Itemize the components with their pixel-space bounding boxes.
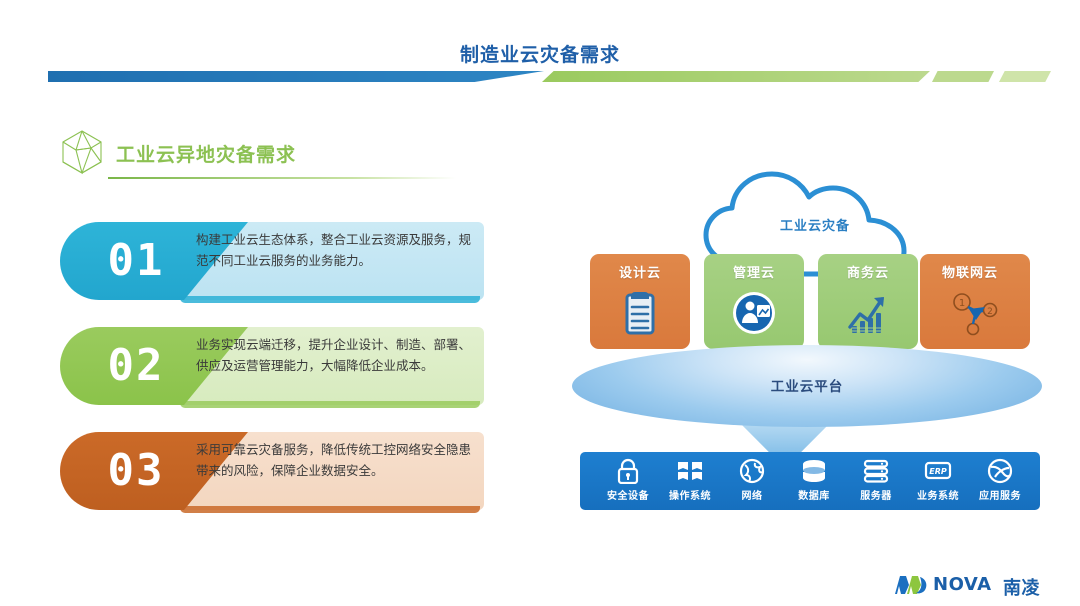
clipboard-icon — [610, 287, 670, 342]
item-text: 业务实现云端迁移，提升企业设计、制造、部署、供应及运营管理能力，大幅降低企业成本… — [196, 334, 480, 376]
svg-text:2: 2 — [987, 307, 993, 317]
section-heading-label: 工业云异地灾备需求 — [116, 140, 296, 167]
service-box-label: 管理云 — [704, 262, 804, 281]
infra-item-security[interactable]: 安全设备 — [596, 458, 660, 506]
logo-name-cn: 南凌 — [1003, 574, 1040, 600]
infra-item-business-system[interactable]: ERP 业务系统 — [906, 458, 970, 506]
header-decoration-bars — [0, 70, 1080, 84]
page-title: 制造业云灾备需求 — [0, 40, 1080, 67]
service-box-management-cloud[interactable]: 管理云 — [704, 254, 804, 349]
service-box-iot-cloud[interactable]: 物联网云 1 2 — [920, 254, 1030, 349]
item-text: 采用可靠云灾备服务，降低传统工控网络安全隐患带来的风险，保障企业数据安全。 — [196, 439, 480, 481]
slide-header: 制造业云灾备需求 — [0, 40, 1080, 88]
infra-item-network[interactable]: 网络 — [720, 458, 784, 506]
section-heading-rule — [108, 177, 456, 179]
list-item[interactable]: 01 构建工业云生态体系，整合工业云资源及服务，规范不同工业云服务的业务能力。 — [60, 222, 484, 300]
list-item[interactable]: 02 业务实现云端迁移，提升企业设计、制造、部署、供应及运营管理能力，大幅降低企… — [60, 327, 484, 405]
database-icon — [799, 458, 829, 484]
item-number: 01 — [90, 231, 182, 291]
infra-item-server[interactable]: 服务器 — [844, 458, 908, 506]
svg-text:1: 1 — [959, 298, 965, 309]
item-panel-shadow — [180, 296, 480, 303]
svg-text:ERP: ERP — [929, 467, 947, 476]
header-bar-green — [542, 71, 930, 82]
platform-label: 工业云平台 — [572, 375, 1042, 395]
header-bar-blue — [48, 71, 544, 82]
app-cloud-icon — [985, 458, 1015, 484]
item-panel-shadow — [180, 506, 480, 513]
service-box-label: 物联网云 — [920, 262, 1020, 281]
infra-item-os[interactable]: 操作系统 — [658, 458, 722, 506]
cloud-service-boxes: 设计云 管理云 — [590, 254, 1040, 349]
infra-item-database[interactable]: 数据库 — [782, 458, 846, 506]
lock-icon — [613, 458, 643, 484]
erp-icon: ERP — [923, 458, 953, 484]
gem-polygon-icon — [56, 128, 108, 176]
infra-item-label: 应用服务 — [964, 487, 1036, 502]
logo-name: NOVA — [933, 574, 992, 595]
infra-item-app-service[interactable]: 应用服务 — [968, 458, 1032, 506]
growth-chart-icon — [838, 287, 898, 342]
service-box-design-cloud[interactable]: 设计云 — [590, 254, 690, 349]
globe-icon — [737, 458, 767, 484]
header-bar-green-small — [932, 71, 994, 82]
server-rack-icon — [861, 458, 891, 484]
service-box-label: 设计云 — [590, 262, 690, 281]
item-text: 构建工业云生态体系，整合工业云资源及服务，规范不同工业云服务的业务能力。 — [196, 229, 480, 271]
cloud-label: 工业云灾备 — [700, 215, 930, 234]
service-box-label: 商务云 — [818, 262, 918, 281]
item-number: 03 — [90, 441, 182, 501]
iot-nodes-icon: 1 2 — [945, 287, 1005, 342]
item-number: 02 — [90, 336, 182, 396]
header-bar-green-tail — [999, 71, 1051, 82]
brand-logo: NOVA 南凌 — [893, 572, 1053, 598]
slide-root: 制造业云灾备需求 工业云异地灾备需求 01 构 — [0, 0, 1080, 606]
service-box-business-cloud[interactable]: 商务云 — [818, 254, 918, 349]
list-item[interactable]: 03 采用可靠云灾备服务，降低传统工控网络安全隐患带来的风险，保障企业数据安全。 — [60, 432, 484, 510]
section-heading: 工业云异地灾备需求 — [52, 128, 452, 186]
infrastructure-bar: 安全设备 操作系统 网络 — [580, 452, 1040, 510]
item-panel-shadow — [180, 401, 480, 408]
os-blocks-icon — [675, 458, 705, 484]
user-presentation-icon — [724, 287, 784, 342]
nova-m-mark-icon — [893, 573, 929, 596]
architecture-diagram: 工业云灾备 设计云 管理云 — [560, 160, 1060, 520]
